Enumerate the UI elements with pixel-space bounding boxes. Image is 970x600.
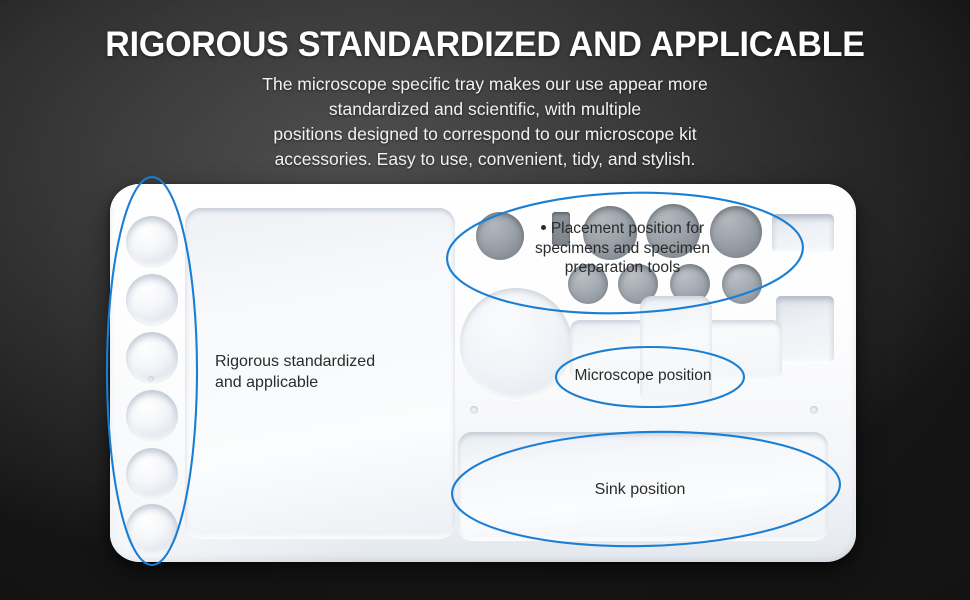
microscope-seat-vertical-arm [640,296,712,404]
description-line-3: positions designed to correspond to our … [0,122,970,147]
callout-microscope: Microscope position [548,366,738,386]
accessory-bin-top [772,214,834,252]
description-line-1: The microscope specific tray makes our u… [0,72,970,97]
callout-tray-left: Rigorous standardized and applicable [215,352,435,394]
well-2 [126,274,178,326]
well-6 [126,504,178,556]
description-paragraph: The microscope specific tray makes our u… [0,72,970,171]
microscope-seat [570,296,782,404]
description-line-2: standardized and scientific, with multip… [0,97,970,122]
well-4 [126,390,178,442]
page-title: RIGOROUS STANDARDIZED AND APPLICABLE [15,26,956,63]
product-marketing-image: RIGOROUS STANDARDIZED AND APPLICABLE The… [0,0,970,600]
alignment-pin-well [148,376,154,382]
well-1 [126,216,178,268]
description-line-4: accessories. Easy to use, convenient, ti… [0,147,970,172]
well-5 [126,448,178,500]
header-block: RIGOROUS STANDARDIZED AND APPLICABLE The… [0,0,970,171]
alignment-pin-right [810,406,818,414]
alignment-pin-left [470,406,478,414]
callout-sink: Sink position [540,480,740,500]
bullet-icon [541,225,546,230]
callout-placement-text: Placement position for specimens and spe… [535,220,710,276]
accessory-bin-bottom [776,296,834,362]
callout-placement: Placement position for specimens and spe… [505,219,740,278]
